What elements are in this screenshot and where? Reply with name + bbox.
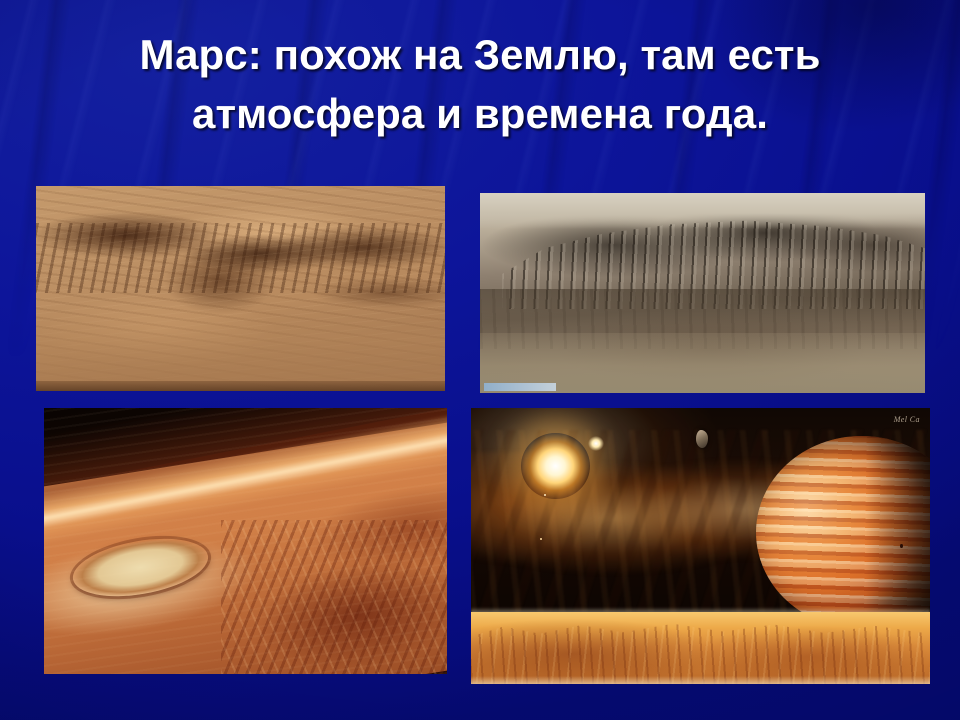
image-scan-artifact [484, 383, 555, 391]
slide-canvas: Марс: похож на Землю, там есть атмосфера… [0, 0, 960, 720]
image-mars-canyon-gray [480, 193, 925, 393]
planet-dark-spot [900, 544, 903, 549]
star-icon [540, 538, 542, 540]
sun-icon [521, 433, 590, 499]
image-space-art-planet: Mel Ca [471, 408, 930, 684]
image-mars-limb-orbit [44, 408, 447, 674]
canyon-bottom-edge [36, 381, 445, 391]
asteroid-icon [696, 430, 708, 448]
image-bottom-fade [471, 676, 930, 684]
canyon-floor [36, 305, 445, 391]
slide-title: Марс: похож на Землю, там есть атмосфера… [0, 26, 960, 144]
companion-star-icon [588, 436, 604, 451]
image-mars-canyon-tan [36, 186, 445, 391]
artist-signature: Mel Ca [894, 415, 920, 424]
mars-dust-texture [44, 408, 447, 674]
